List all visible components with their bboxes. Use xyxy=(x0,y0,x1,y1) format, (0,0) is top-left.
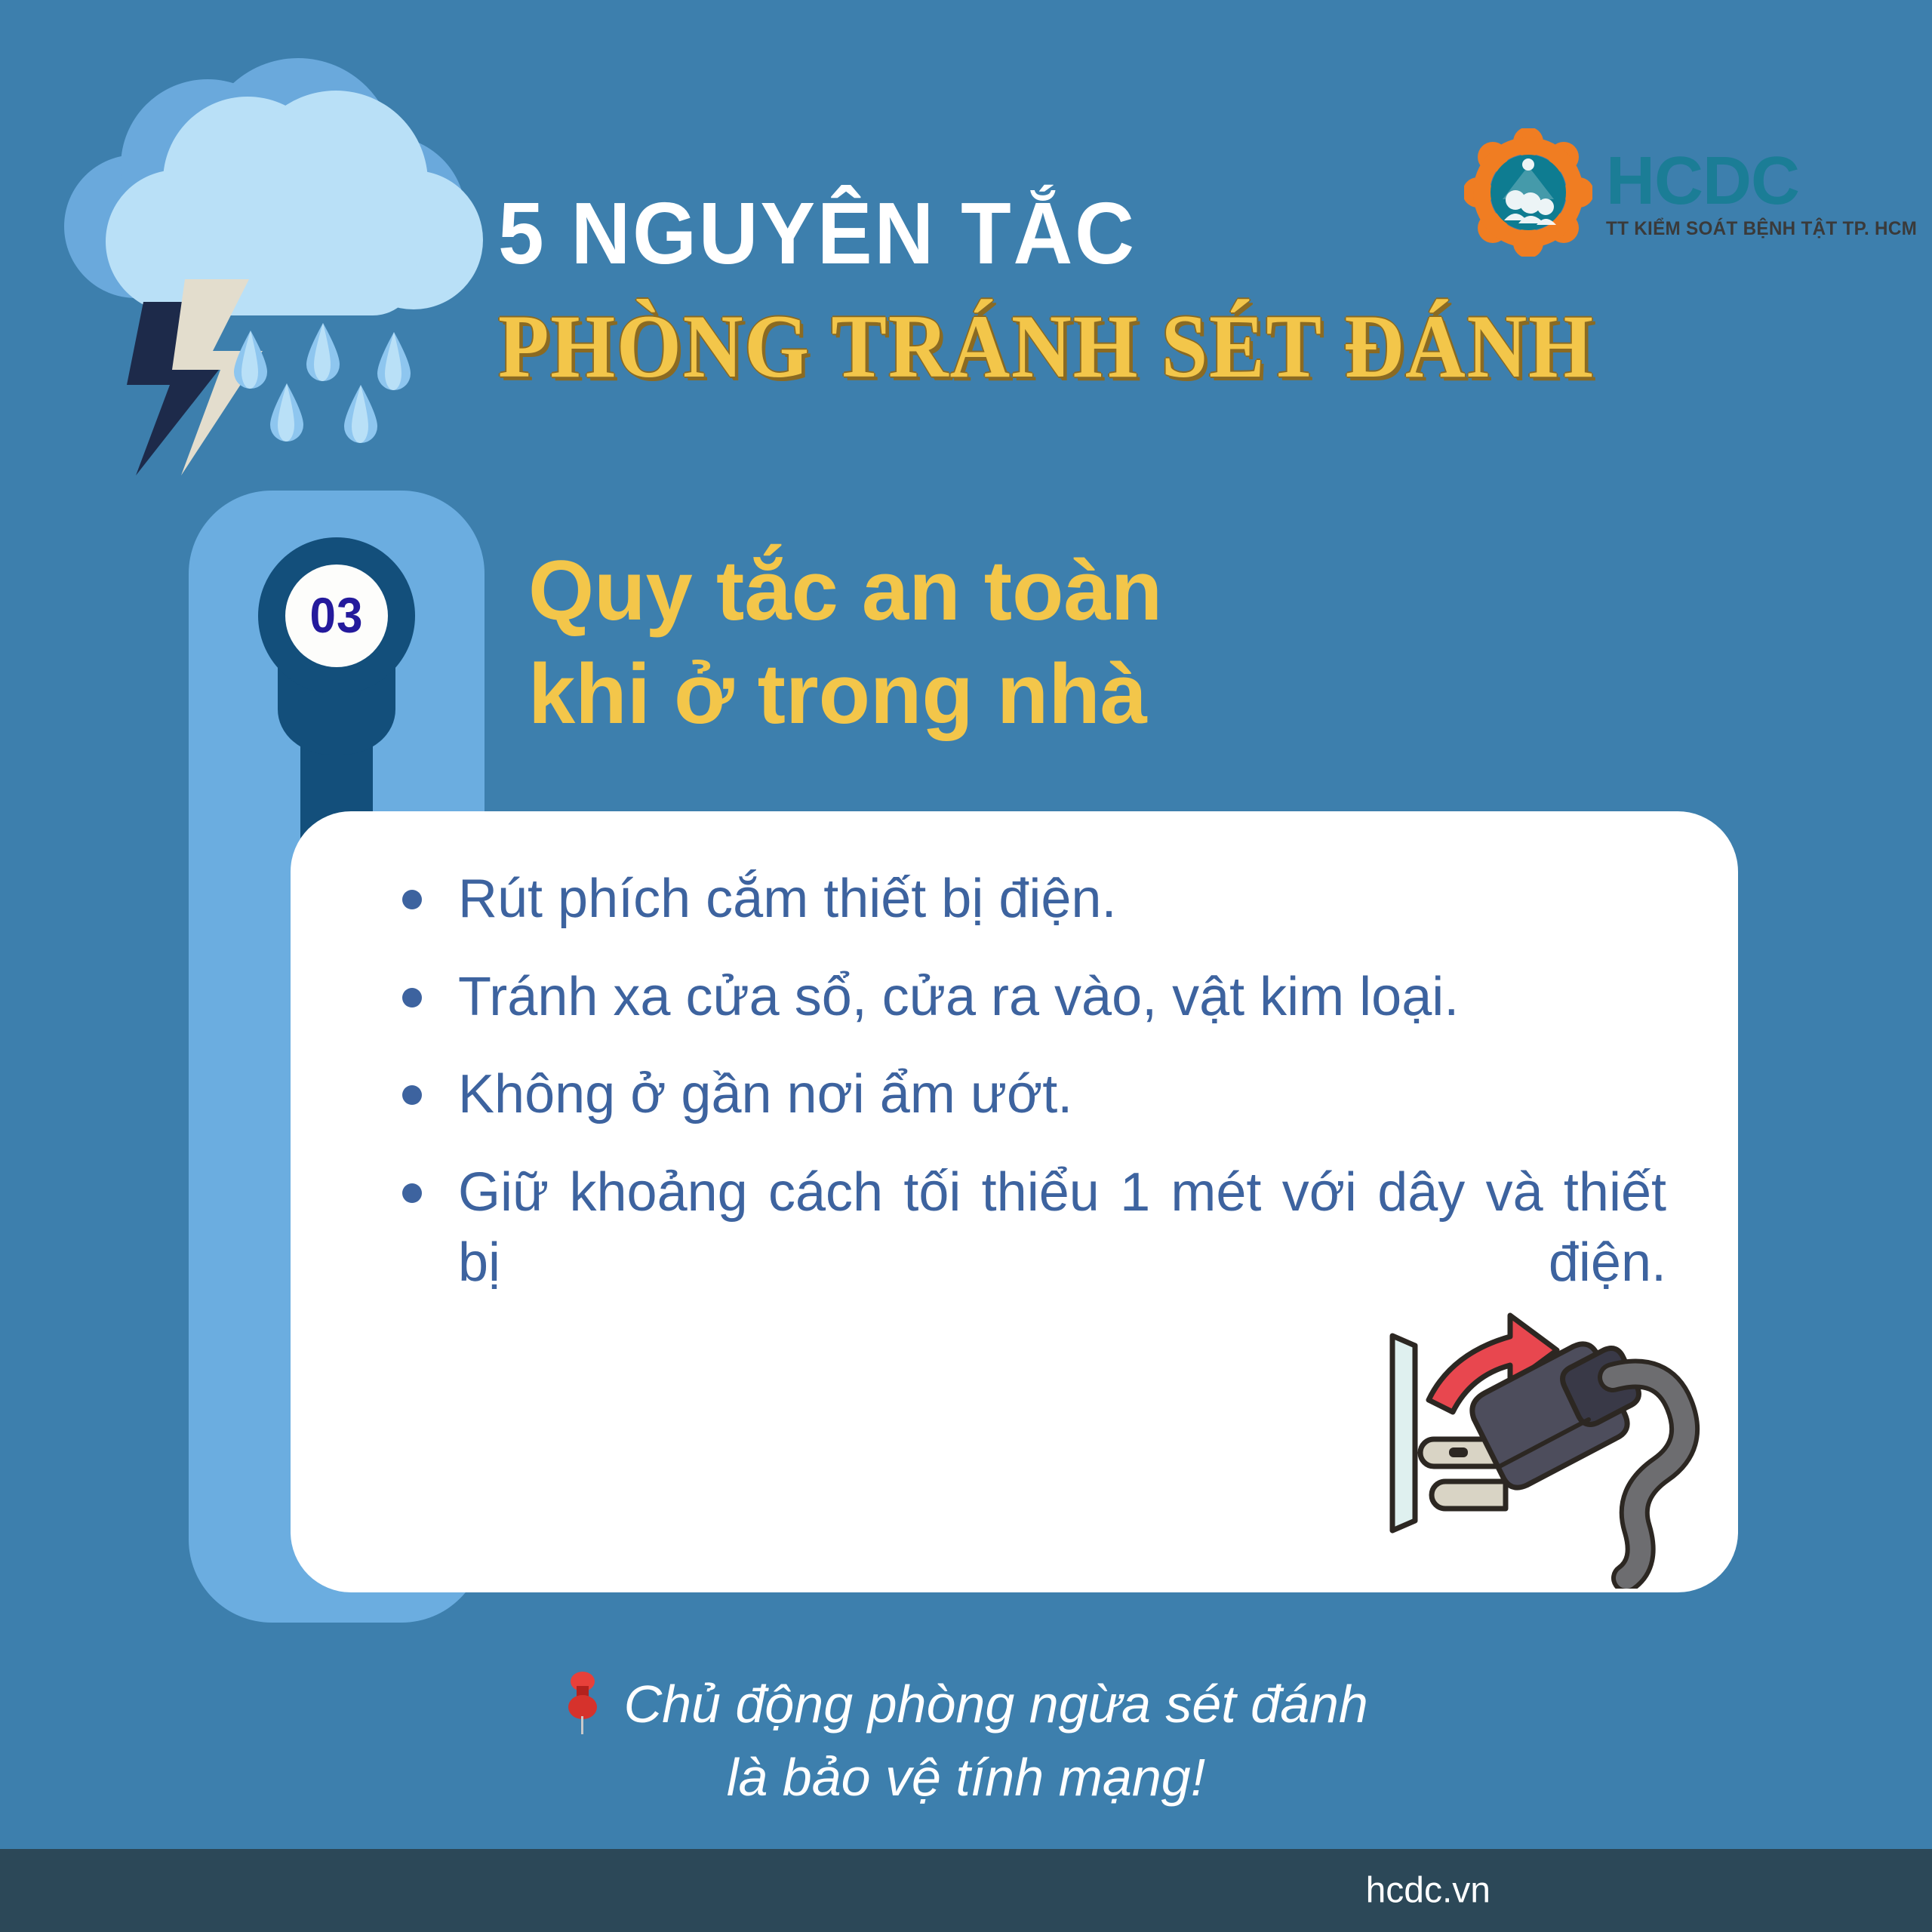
slogan: Chủ động phòng ngừa sét đánh là bảo vệ t… xyxy=(0,1668,1932,1814)
section-heading-line-1: Quy tắc an toàn xyxy=(528,540,1660,643)
section-heading: Quy tắc an toàn khi ở trong nhà xyxy=(528,540,1660,746)
list-item: Rút phích cắm thiết bị điện. xyxy=(396,864,1666,935)
bullet-dot-icon xyxy=(402,890,422,909)
section-heading-line-2: khi ở trong nhà xyxy=(528,643,1660,746)
list-item-text: Không ở gần nơi ẩm ướt. xyxy=(458,1064,1072,1124)
content-card: Rút phích cắm thiết bị điện. Tránh xa cử… xyxy=(291,811,1738,1592)
poster-canvas: 5 NGUYÊN TẮC PHÒNG TRÁNH SÉT ĐÁNH xyxy=(0,0,1932,1932)
website-label[interactable]: hcdc.vn xyxy=(1366,1870,1491,1912)
title-line-1: 5 NGUYÊN TẮC xyxy=(498,189,1392,278)
step-number-badge: 03 xyxy=(285,565,388,667)
bullet-dot-icon xyxy=(402,1085,422,1105)
logo-name: HCDC xyxy=(1606,147,1927,215)
pushpin-icon xyxy=(564,1671,601,1736)
logo-text-block: HCDC TT KIỂM SOÁT BỆNH TẬT TP. HCM xyxy=(1606,147,1927,238)
footer-bar: hcdc.vn xyxy=(0,1849,1932,1932)
step-number-label: 03 xyxy=(310,587,364,644)
list-item-text: Giữ khoảng cách tối thiểu 1 mét với dây … xyxy=(458,1162,1666,1294)
unplug-power-plug-icon xyxy=(1362,1294,1717,1589)
hcdc-hands-circle-logo-icon xyxy=(1464,128,1592,257)
hcdc-logo: HCDC TT KIỂM SOÁT BỆNH TẬT TP. HCM xyxy=(1464,125,1826,260)
title-line-2: PHÒNG TRÁNH SÉT ĐÁNH xyxy=(498,300,1373,392)
cloud-lightning-rain-icon xyxy=(45,53,483,475)
bullet-dot-icon xyxy=(402,988,422,1008)
list-item: Tránh xa cửa sổ, cửa ra vào, vật kim loạ… xyxy=(396,962,1666,1033)
slogan-line-2: là bảo vệ tính mạng! xyxy=(0,1741,1932,1814)
slogan-line-1-wrap: Chủ động phòng ngừa sét đánh xyxy=(0,1668,1932,1741)
list-item-text: Tránh xa cửa sổ, cửa ra vào, vật kim loạ… xyxy=(458,967,1459,1027)
slogan-line-1: Chủ động phòng ngừa sét đánh xyxy=(624,1675,1368,1734)
list-item: Không ở gần nơi ẩm ướt. xyxy=(396,1060,1666,1131)
logo-subtitle: TT KIỂM SOÁT BỆNH TẬT TP. HCM xyxy=(1606,220,1917,238)
poster-title: 5 NGUYÊN TẮC PHÒNG TRÁNH SÉT ĐÁNH xyxy=(498,189,1449,393)
list-item-text: Rút phích cắm thiết bị điện. xyxy=(458,869,1116,929)
bullet-dot-icon xyxy=(402,1183,422,1203)
